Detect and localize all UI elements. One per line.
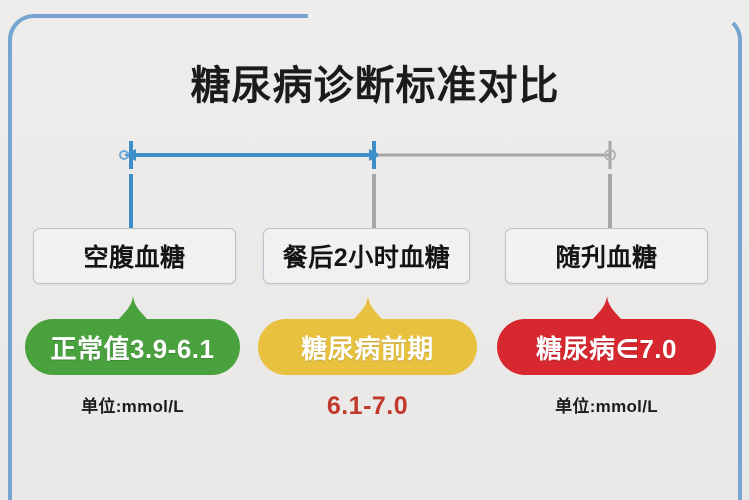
outer-frame-border-top	[8, 14, 308, 54]
metric-box-fasting[interactable]: 空腹血糖	[33, 228, 236, 284]
pill-body: 糖尿病∈7.0	[497, 319, 716, 375]
infographic-canvas: 糖尿病诊断标准对比	[0, 0, 750, 500]
page-title: 糖尿病诊断标准对比	[0, 64, 750, 108]
metric-box-label: 空腹血糖	[83, 238, 185, 274]
result-pill-row: 正常值3.9-6.1 糖尿病前期 糖尿病∈7.0	[0, 296, 750, 386]
caption-text: 单位:mmol/L	[555, 397, 658, 416]
pill-body: 糖尿病前期	[258, 319, 477, 375]
pill-label: 糖尿病前期	[301, 329, 434, 366]
metric-box-label: 随刋血糖	[555, 238, 657, 274]
caption-range-prediabetes: 6.1-7.0	[258, 392, 477, 421]
metric-box-label: 餐后2小时血糖	[283, 238, 450, 274]
connector-segment-active	[120, 141, 381, 169]
caption-text: 单位:mmol/L	[81, 397, 184, 416]
connector-diagram	[0, 132, 750, 232]
pill-label: 糖尿病∈7.0	[536, 329, 677, 366]
metric-box-row: 空腹血糖 餐后2小时血糖 随刋血糖	[0, 228, 750, 284]
connector-segment-inactive	[378, 141, 615, 169]
metric-box-random[interactable]: 随刋血糖	[505, 228, 708, 284]
metric-box-postprandial[interactable]: 餐后2小时血糖	[263, 228, 470, 284]
caption-row: 单位:mmol/L 6.1-7.0 单位:mmol/L	[0, 392, 750, 432]
caption-unit-random: 单位:mmol/L	[497, 392, 716, 417]
caption-unit-fasting: 单位:mmol/L	[25, 392, 240, 417]
caption-text: 6.1-7.0	[327, 392, 408, 420]
pill-label: 正常值3.9-6.1	[51, 329, 215, 366]
pill-body: 正常值3.9-6.1	[25, 319, 240, 375]
